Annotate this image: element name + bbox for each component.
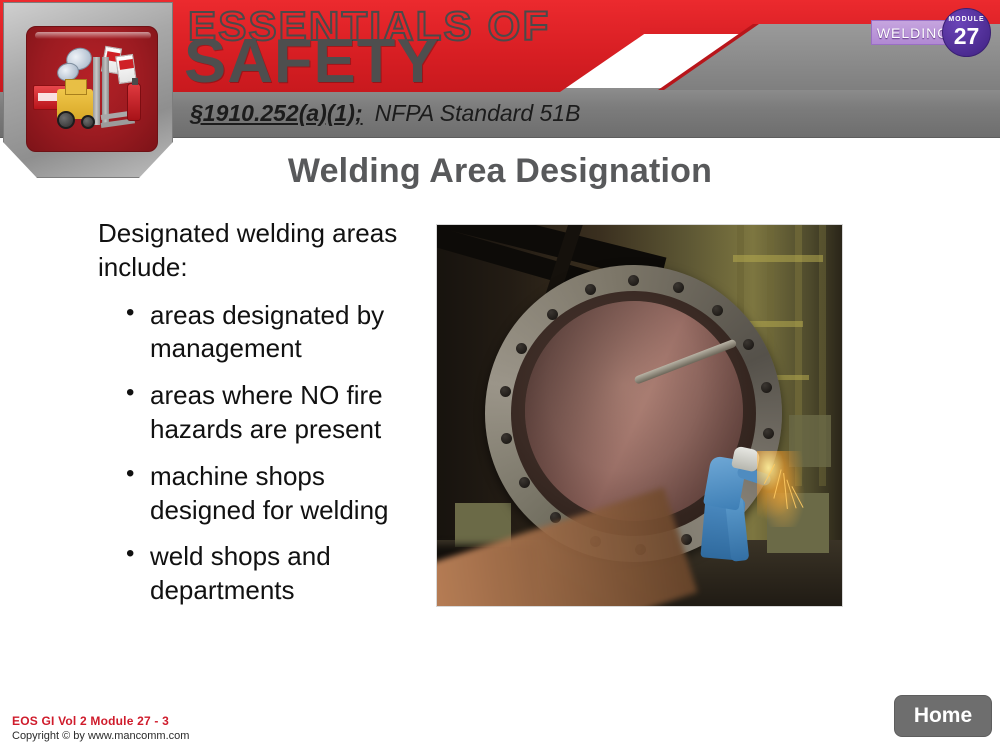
slide-header: ESSENTIALS OF SAFETY WELDING MODULE 27 §… bbox=[0, 0, 1000, 140]
lead-paragraph: Designated welding areas include: bbox=[98, 216, 428, 285]
course-logo-image bbox=[26, 26, 158, 152]
module-badge: MODULE 27 bbox=[942, 8, 991, 57]
photo-bolt-hole bbox=[547, 309, 558, 320]
home-button[interactable]: Home bbox=[894, 695, 992, 737]
photo-bolt-hole bbox=[628, 275, 639, 286]
forklift-wheel-front-icon bbox=[57, 111, 75, 129]
photo-spark bbox=[764, 464, 775, 484]
bullet-list: areas designated by management areas whe… bbox=[98, 299, 428, 608]
photo-bolt-hole bbox=[673, 282, 684, 293]
standard-text: NFPA Standard 51B bbox=[375, 100, 581, 127]
photo-bolt-hole bbox=[519, 477, 530, 488]
forklift-cab-icon bbox=[65, 79, 87, 95]
fire-extinguisher-icon bbox=[127, 83, 141, 121]
forklift-mast-icon bbox=[93, 57, 100, 125]
slide-footer: EOS GI Vol 2 Module 27 - 3 Copyright © b… bbox=[12, 714, 189, 742]
photo-bolt-hole bbox=[681, 534, 692, 545]
photo-bolt-hole bbox=[516, 343, 527, 354]
footer-copyright: Copyright © by www.mancomm.com bbox=[12, 730, 189, 742]
welding-photo bbox=[437, 225, 842, 606]
list-item: areas where NO fire hazards are present bbox=[98, 379, 428, 447]
photo-bolt-hole bbox=[500, 386, 511, 397]
photo-bolt-hole bbox=[763, 428, 774, 439]
photo-weld-sparks bbox=[757, 451, 809, 527]
list-item: machine shops designed for welding bbox=[98, 460, 428, 528]
photo-bolt-hole bbox=[743, 339, 754, 350]
photo-bolt-hole bbox=[761, 382, 772, 393]
brand-title-line2: SAFETY bbox=[184, 31, 440, 93]
footer-reference: EOS GI Vol 2 Module 27 - 3 bbox=[12, 714, 189, 728]
list-item: weld shops and departments bbox=[98, 540, 428, 608]
photo-bolt-hole bbox=[585, 284, 596, 295]
photo-spark bbox=[773, 469, 781, 498]
regulation-citation-bar: §1910.252(a)(1); NFPA Standard 51B bbox=[190, 92, 890, 134]
forklift-wheel-rear-icon bbox=[81, 115, 95, 129]
content-text-column: Designated welding areas include: areas … bbox=[98, 216, 428, 621]
module-badge-word: MODULE bbox=[943, 16, 990, 23]
citation-text: §1910.252(a)(1); bbox=[190, 100, 363, 127]
photo-bolt-hole bbox=[501, 433, 512, 444]
list-item: areas designated by management bbox=[98, 299, 428, 367]
photo-light-strip-1 bbox=[733, 255, 823, 262]
topic-badge-label: WELDING bbox=[877, 25, 949, 41]
page-title: Welding Area Designation bbox=[0, 152, 1000, 191]
logo-gloss bbox=[35, 32, 151, 39]
photo-bolt-hole bbox=[712, 305, 723, 316]
module-badge-number: 27 bbox=[943, 25, 990, 48]
